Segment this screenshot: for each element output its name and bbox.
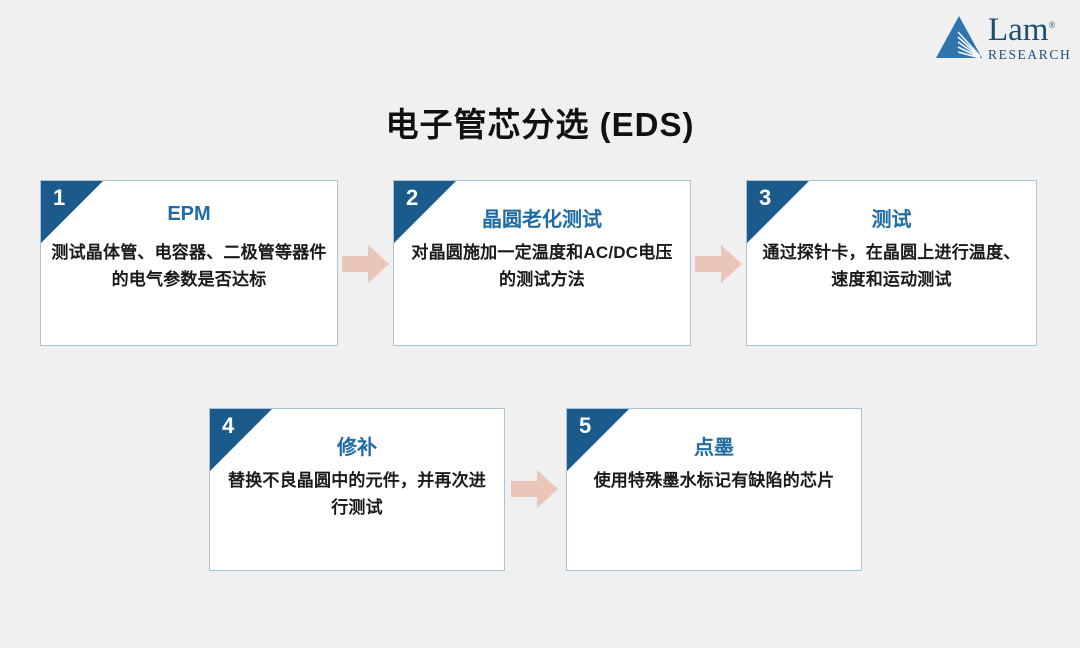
- step-body: 测试晶体管、电容器、二极管等器件的电气参数是否达标: [51, 239, 327, 293]
- step-heading: 点墨: [567, 431, 861, 460]
- step-card-5: 5 点墨 使用特殊墨水标记有缺陷的芯片: [566, 408, 862, 571]
- step-heading: EPM: [41, 203, 337, 226]
- step-number: 3: [759, 185, 771, 211]
- step-card-4: 4 修补 替换不良晶圆中的元件，并再次进行测试: [209, 408, 505, 571]
- step-body: 通过探针卡，在晶圆上进行温度、速度和运动测试: [757, 239, 1026, 293]
- registered-mark: ®: [1048, 20, 1055, 30]
- step-number: 4: [222, 413, 234, 439]
- step-body: 对晶圆施加一定温度和AC/DC电压的测试方法: [404, 239, 680, 293]
- step-heading: 晶圆老化测试: [394, 203, 690, 232]
- logo-subtitle: RESEARCH: [988, 48, 1071, 62]
- arrow-right-icon: [695, 243, 743, 285]
- step-number: 1: [53, 185, 65, 211]
- step-body: 替换不良晶圆中的元件，并再次进行测试: [220, 467, 494, 521]
- logo-name-text: Lam: [988, 12, 1048, 48]
- step-card-3: 3 测试 通过探针卡，在晶圆上进行温度、速度和运动测试: [746, 180, 1037, 346]
- page-title: 电子管芯分选 (EDS): [0, 98, 1080, 146]
- logo-wordmark: Lam® RESEARCH: [988, 12, 1071, 62]
- step-heading: 修补: [210, 431, 504, 460]
- arrow-right-icon: [342, 243, 390, 285]
- step-heading: 测试: [747, 203, 1036, 232]
- logo-name: Lam®: [988, 14, 1055, 47]
- step-body: 使用特殊墨水标记有缺陷的芯片: [577, 467, 851, 494]
- lam-research-logo: Lam® RESEARCH: [934, 12, 1062, 66]
- lam-triangle-icon: [934, 12, 984, 62]
- step-number: 5: [579, 413, 591, 439]
- step-number: 2: [406, 185, 418, 211]
- arrow-right-icon: [511, 468, 559, 510]
- step-card-1: 1 EPM 测试晶体管、电容器、二极管等器件的电气参数是否达标: [40, 180, 338, 346]
- step-card-2: 2 晶圆老化测试 对晶圆施加一定温度和AC/DC电压的测试方法: [393, 180, 691, 346]
